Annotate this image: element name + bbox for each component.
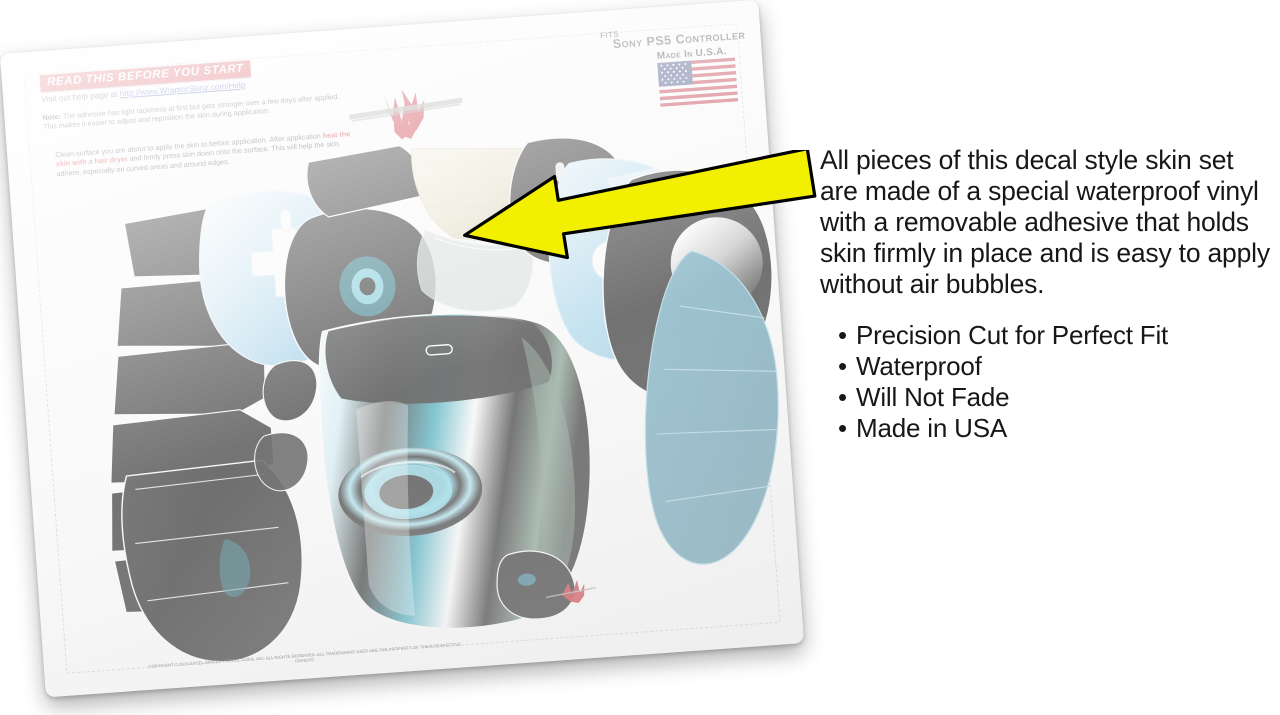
wraptorskinz-logo bbox=[339, 83, 473, 148]
skin-sheet-container: READ THIS BEFORE YOU START Visit out hel… bbox=[8, 18, 808, 708]
feature-item: Made in USA bbox=[838, 413, 1270, 444]
feature-item: Waterproof bbox=[838, 351, 1270, 382]
feature-item: Precision Cut for Perfect Fit bbox=[838, 320, 1270, 351]
printed-skin-sheet: READ THIS BEFORE YOU START Visit out hel… bbox=[0, 0, 804, 697]
promo-copy-block: All pieces of this decal style skin set … bbox=[820, 145, 1270, 444]
usa-flag-icon bbox=[657, 57, 738, 106]
feature-item: Will Not Fade bbox=[838, 382, 1270, 413]
promo-feature-list: Precision Cut for Perfect Fit Waterproof… bbox=[838, 320, 1270, 444]
promo-paragraph: All pieces of this decal style skin set … bbox=[820, 145, 1270, 300]
